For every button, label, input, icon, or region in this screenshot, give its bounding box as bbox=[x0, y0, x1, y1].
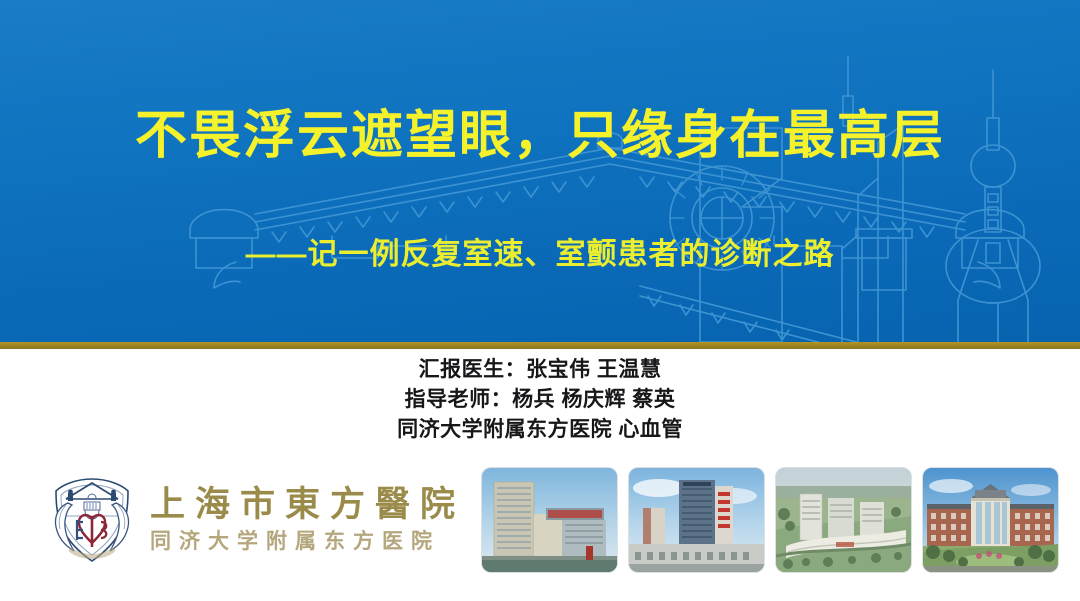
hospital-name-traditional: 上海市東方醫院 bbox=[150, 483, 465, 527]
roof-tassels-right bbox=[640, 177, 934, 237]
slide-header-banner: 不畏浮云遮望眼，只缘身在最高层 ——记一例反复室速、室颤患者的诊断之路 bbox=[0, 0, 1080, 342]
hospital-crest-icon bbox=[44, 469, 140, 569]
hospital-photo-3 bbox=[776, 468, 911, 572]
slide-subtitle: ——记一例反复室速、室颤患者的诊断之路 bbox=[0, 238, 1080, 273]
hospital-photo-2 bbox=[629, 468, 764, 572]
hospital-photo-4 bbox=[923, 468, 1058, 572]
hospital-logo: 上海市東方醫院 同济大学附属东方医院 bbox=[44, 463, 474, 575]
presenter-line-advisors: 指导老师：杨兵 杨庆辉 蔡英 bbox=[0, 385, 1080, 415]
gold-divider-band bbox=[0, 342, 1080, 349]
presenter-line-affiliation: 同济大学附属东方医院 心血管 bbox=[0, 415, 1080, 445]
hospital-name-simplified: 同济大学附属东方医院 bbox=[150, 527, 465, 555]
slide-title: 不畏浮云遮望眼，只缘身在最高层 bbox=[0, 108, 1080, 165]
hospital-photo-strip bbox=[482, 468, 1064, 572]
presenter-info-block: 汇报医生：张宝伟 王温慧 指导老师：杨兵 杨庆辉 蔡英 同济大学附属东方医院 心… bbox=[0, 355, 1080, 445]
roof-tassels-left bbox=[272, 177, 594, 242]
shanghai-skyline-illustration bbox=[0, 0, 1080, 342]
hospital-photo-1 bbox=[482, 468, 617, 572]
presentation-title-slide: 不畏浮云遮望眼，只缘身在最高层 ——记一例反复室速、室颤患者的诊断之路 汇报医生… bbox=[0, 0, 1080, 601]
presenter-line-reporters: 汇报医生：张宝伟 王温慧 bbox=[0, 355, 1080, 385]
hospital-wordmark: 上海市東方醫院 同济大学附属东方医院 bbox=[150, 483, 465, 555]
balustrade-icon bbox=[640, 286, 1080, 342]
